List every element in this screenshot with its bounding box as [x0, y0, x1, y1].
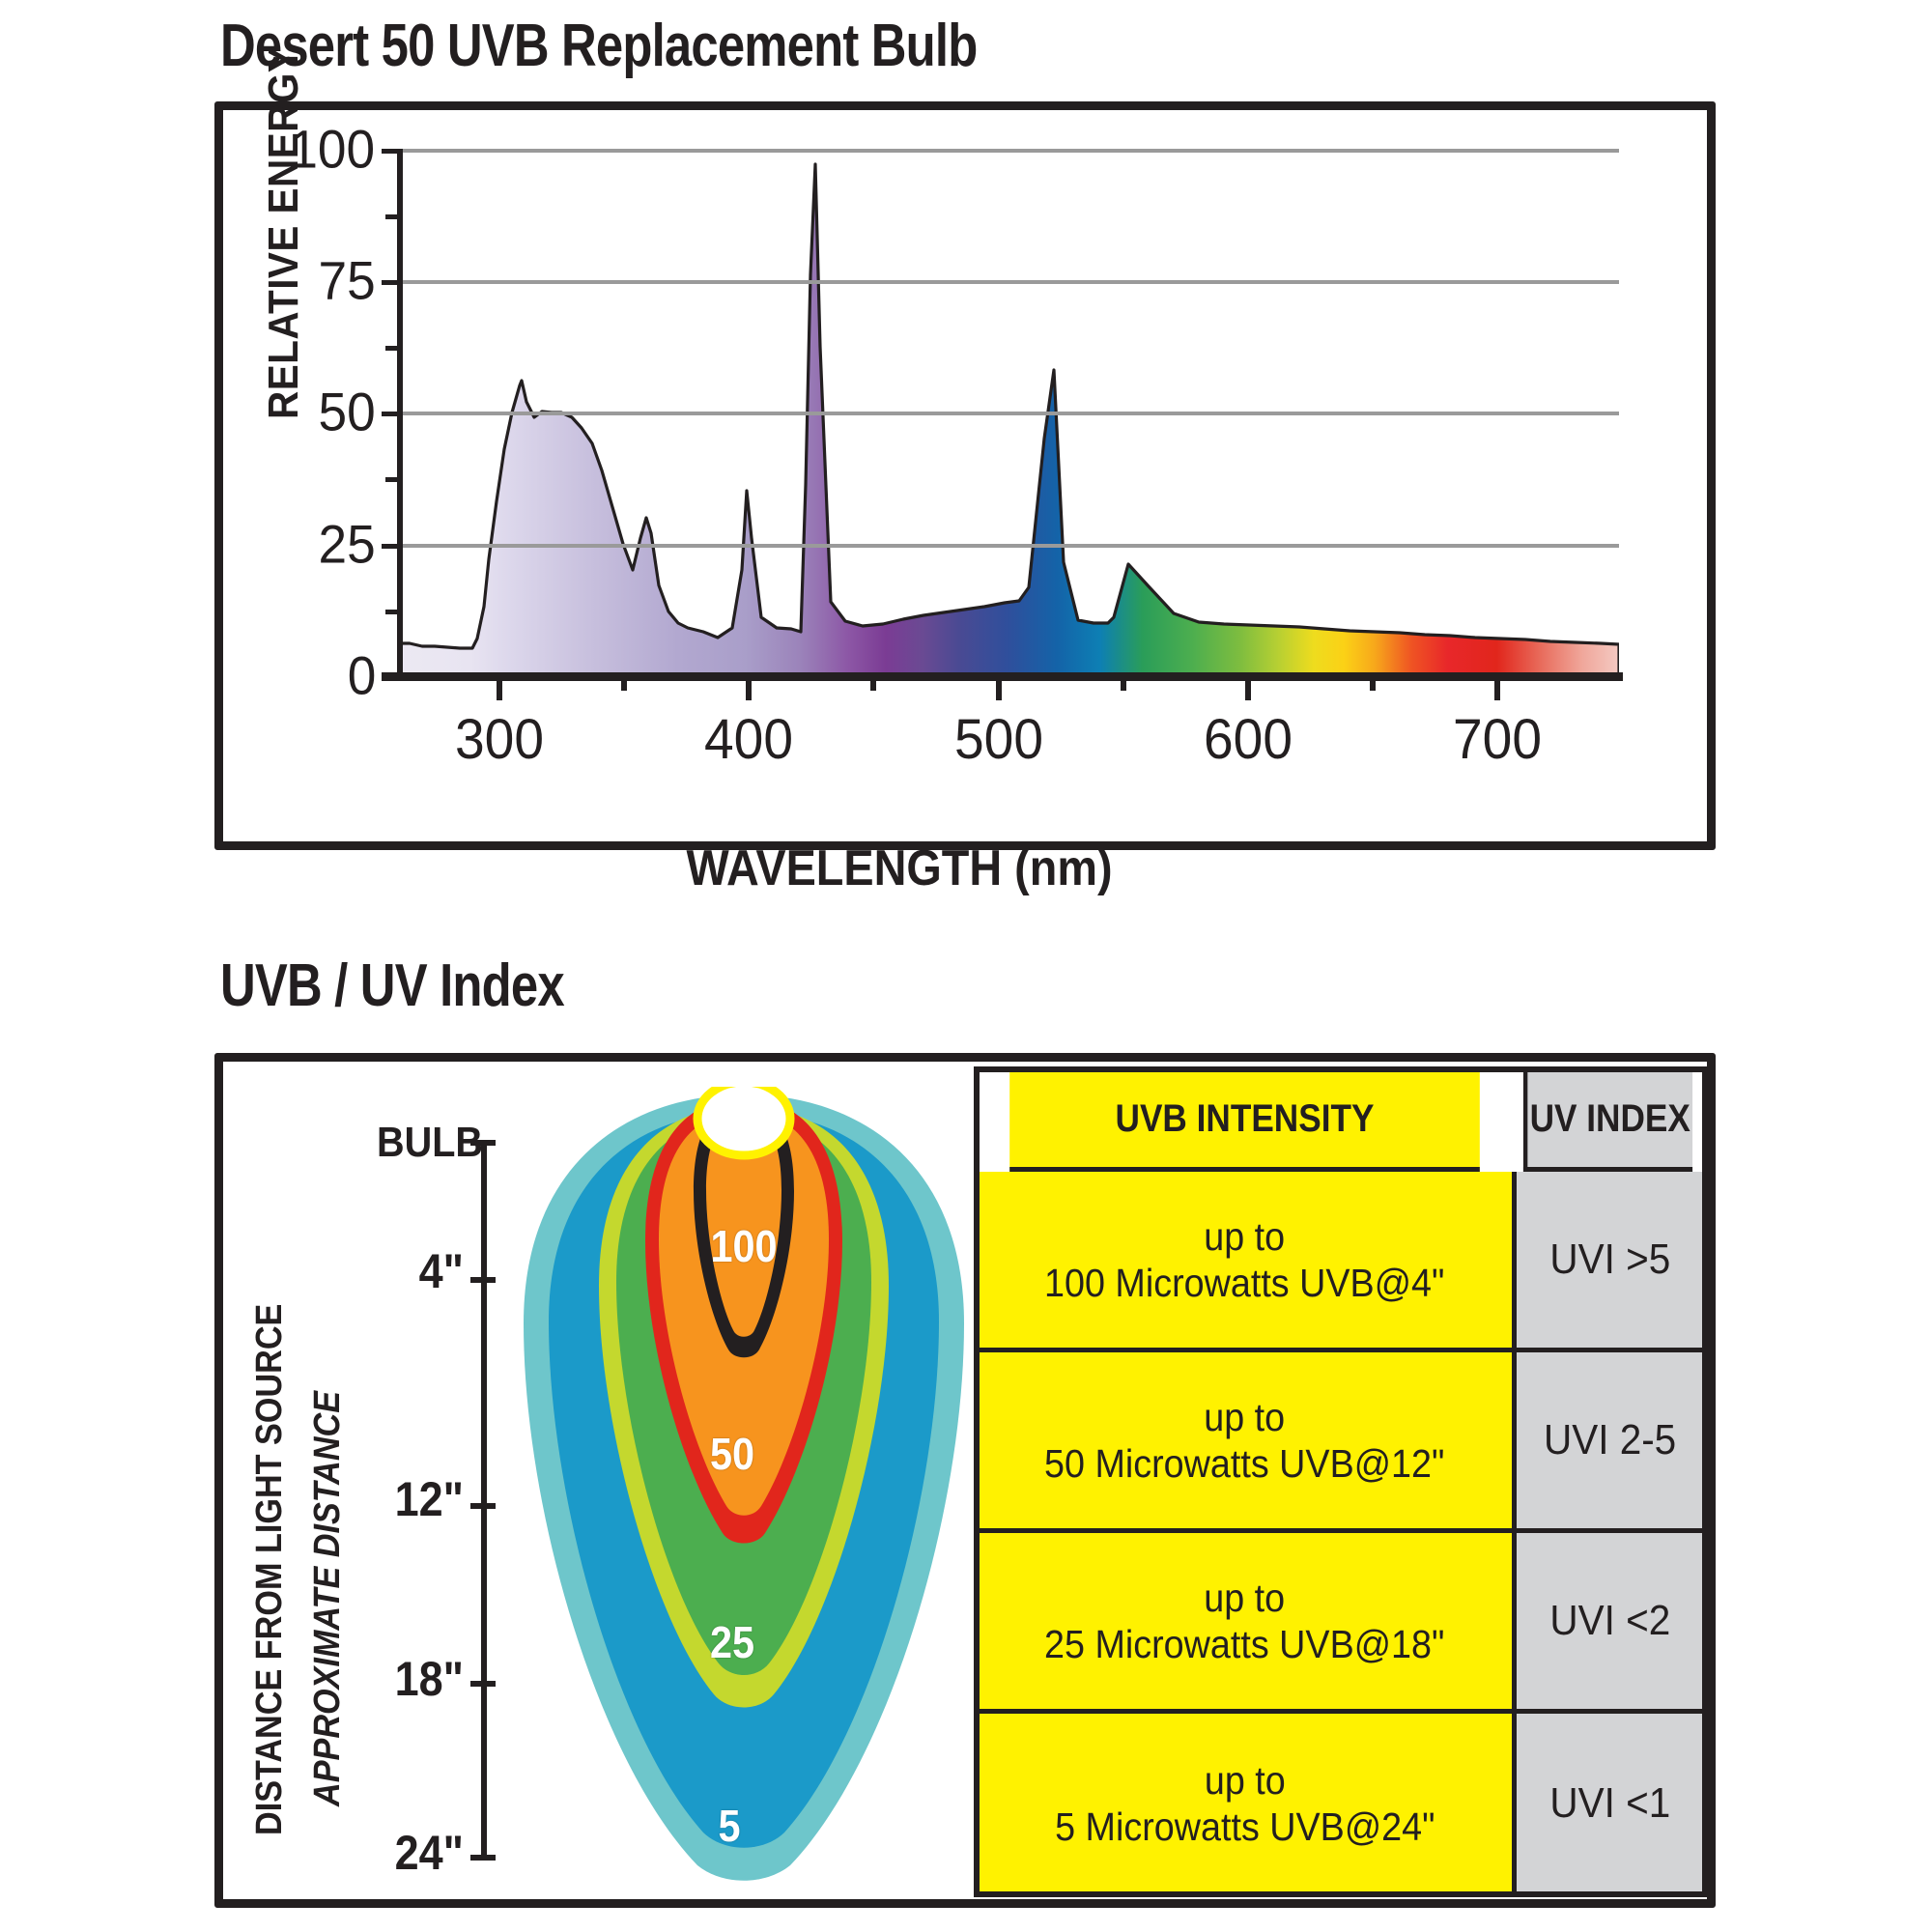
- dist-tick-24: [470, 1855, 496, 1861]
- x-axis-title: WAVELENGTH (nm): [686, 839, 1112, 897]
- table-header-uvindex: UV INDEX: [1523, 1070, 1692, 1172]
- cell-intensity-line1: up to: [1044, 1575, 1444, 1621]
- cell-intensity-line2: 50 Microwatts UVB@12": [1044, 1440, 1444, 1487]
- gridline-75: [397, 280, 1619, 284]
- y-tick-75: [382, 280, 397, 285]
- y-tick-label-0: 0: [348, 644, 377, 707]
- y-tick-label-25: 25: [318, 513, 375, 576]
- x-tick-300: [497, 675, 502, 700]
- y-axis-line: [397, 149, 403, 675]
- spectrum-chart-frame: 100 75 50 25 0 300 400 500 600 700 RELAT…: [214, 101, 1716, 850]
- distance-axis-line: [481, 1140, 487, 1855]
- x-axis-line: [382, 672, 1623, 681]
- x-tick-600: [1245, 675, 1251, 700]
- dist-tick-4: [470, 1277, 496, 1283]
- table-cell-uvi: UVI 2-5: [1512, 1352, 1704, 1533]
- table-row: up to 5 Microwatts UVB@24": [978, 1714, 1512, 1893]
- table-column-uvindex: UV INDEX UVI >5 UVI 2-5 UVI <2 UVI <1: [1512, 1070, 1704, 1893]
- cell-intensity-line2: 25 Microwatts UVB@18": [1044, 1621, 1444, 1667]
- table-column-intensity: UVB INTENSITY up to 100 Microwatts UVB@4…: [978, 1070, 1512, 1893]
- gridline-100: [397, 149, 1619, 153]
- cell-intensity-line1: up to: [1044, 1394, 1444, 1440]
- x-tick-label-300: 300: [455, 707, 544, 772]
- table-cell-uvi: UVI >5: [1512, 1172, 1704, 1352]
- uvi-value: UVI <1: [1550, 1779, 1671, 1828]
- table-row: up to 100 Microwatts UVB@4": [978, 1172, 1512, 1352]
- x-tick-400: [746, 675, 752, 700]
- gridline-50: [397, 412, 1619, 415]
- zone-label-25: 25: [710, 1616, 754, 1668]
- dist-tick-12: [470, 1503, 496, 1509]
- dist-label-12: 12": [377, 1471, 464, 1527]
- dist-label-bulb: BULB: [377, 1119, 464, 1167]
- uv-axis-title-secondary: APPROXIMATE DISTANCE: [307, 1391, 349, 1806]
- x-tick-minor-550: [1121, 675, 1126, 691]
- x-tick-minor-350: [621, 675, 627, 691]
- y-tick-minor-37: [385, 477, 397, 482]
- cell-intensity-line2: 5 Microwatts UVB@24": [1055, 1804, 1435, 1850]
- gridline-25: [397, 544, 1619, 548]
- uvindex-title: UVB / UV Index: [220, 952, 564, 1020]
- dist-label-4: 4": [377, 1243, 464, 1299]
- y-tick-label-50: 50: [318, 381, 375, 443]
- dist-label-18: 18": [377, 1651, 464, 1707]
- infographic-page: Desert 50 UVB Replacement Bulb: [0, 0, 1932, 1932]
- table-row: up to 25 Microwatts UVB@18": [978, 1533, 1512, 1714]
- cell-intensity-line1: up to: [1044, 1213, 1444, 1260]
- x-tick-label-700: 700: [1453, 707, 1542, 772]
- zone-label-50: 50: [710, 1428, 754, 1480]
- y-axis-title: RELATIVE ENERGY: [260, 46, 308, 419]
- x-tick-minor-650: [1370, 675, 1376, 691]
- x-tick-500: [996, 675, 1002, 700]
- y-tick-50: [382, 412, 397, 416]
- table-header-intensity: UVB INTENSITY: [1009, 1070, 1480, 1172]
- cell-intensity-line1: up to: [1055, 1757, 1435, 1804]
- spectrum-plot: 100 75 50 25 0 300 400 500 600 700: [397, 149, 1619, 675]
- bulb-icon: [697, 1087, 790, 1155]
- table-cell-uvi: UVI <1: [1512, 1714, 1704, 1893]
- y-tick-minor-12: [385, 610, 397, 614]
- uv-axis-title-primary: DISTANCE FROM LIGHT SOURCE: [249, 1304, 291, 1835]
- x-tick-label-400: 400: [704, 707, 793, 772]
- zone-label-100: 100: [710, 1220, 777, 1272]
- uv-index-table: UVB INTENSITY up to 100 Microwatts UVB@4…: [978, 1070, 1704, 1893]
- x-tick-label-600: 600: [1204, 707, 1293, 772]
- uvi-value: UVI >5: [1550, 1236, 1671, 1284]
- x-tick-minor-450: [870, 675, 876, 691]
- x-tick-label-500: 500: [954, 707, 1043, 772]
- zone-label-5: 5: [718, 1800, 740, 1852]
- y-tick-25: [382, 544, 397, 549]
- table-cell-uvi: UVI <2: [1512, 1533, 1704, 1714]
- cell-intensity-line2: 100 Microwatts UVB@4": [1044, 1260, 1444, 1306]
- y-tick-minor-87: [385, 214, 397, 219]
- table-row: up to 50 Microwatts UVB@12": [978, 1352, 1512, 1533]
- page-title: Desert 50 UVB Replacement Bulb: [220, 12, 977, 80]
- uv-plume-diagram: [502, 1087, 985, 1889]
- y-tick-minor-62: [385, 346, 397, 351]
- dist-label-24: 24": [377, 1825, 464, 1881]
- dist-tick-18: [470, 1681, 496, 1687]
- x-tick-700: [1494, 675, 1500, 700]
- y-tick-100: [382, 149, 397, 154]
- y-tick-label-75: 75: [318, 249, 375, 312]
- uvi-value: UVI <2: [1550, 1597, 1671, 1645]
- uvi-value: UVI 2-5: [1544, 1416, 1676, 1464]
